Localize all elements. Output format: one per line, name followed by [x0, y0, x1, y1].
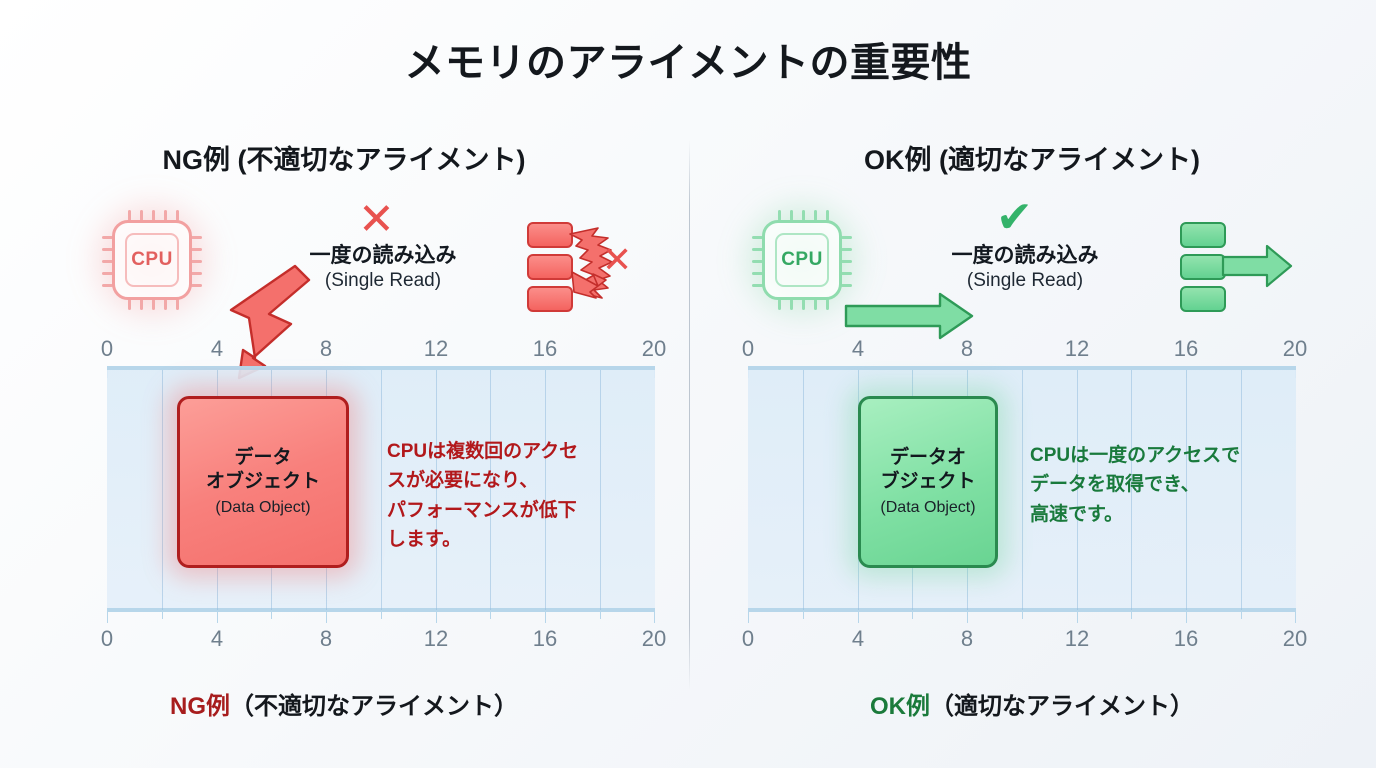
axis-tick-label: 12 [1065, 626, 1089, 652]
data-object-line3-ng: (Data Object) [215, 497, 310, 519]
caption-ng: NG例（不適切なアライメント） [0, 686, 688, 721]
data-object-line1-ng: データ [234, 446, 291, 470]
description-ng: CPUは複数回のアクセ スが必要になり、 パフォーマンスが低下 します。 [387, 437, 637, 555]
data-object-box-ok: データオ ブジェクト (Data Object) [858, 396, 998, 568]
memory-block [1180, 222, 1226, 248]
description-ok: CPUは一度のアクセスで データを取得でき、 高速です。 [1030, 441, 1300, 529]
axis-tick-label: 4 [211, 626, 223, 652]
read-label-jp-ok: 一度の読み込み [910, 243, 1140, 269]
panel-heading-ok: OK例 (適切なアライメント) [688, 138, 1376, 177]
axis-tick-label: 20 [642, 336, 666, 362]
axis-tick-label: 8 [961, 336, 973, 362]
memory-block [527, 286, 573, 312]
single-access-arrow-icon-ok [1221, 244, 1293, 288]
axis-tick-label: 8 [320, 336, 332, 362]
axis-tick-label: 16 [1174, 626, 1198, 652]
axis-tick-label: 12 [424, 336, 448, 362]
cpu-chip-icon-ng: CPU [98, 206, 206, 314]
axis-tick-label: 20 [642, 626, 666, 652]
panel-ok: OK例 (適切なアライメント) CP [688, 0, 1376, 768]
memory-block [1180, 254, 1226, 280]
axis-tick-label: 4 [852, 336, 864, 362]
cpu-body-ng: CPU [112, 220, 192, 300]
data-object-line2-ng: オブジェクト [206, 470, 320, 494]
axis-tick-label: 0 [101, 626, 113, 652]
data-object-line2-ok: ブジェクト [880, 470, 975, 494]
panel-ng: NG例 (不適切なアライメント) C [0, 0, 688, 768]
axis-tick-label: 20 [1283, 336, 1307, 362]
caption-tag-ng: NG例 [170, 693, 230, 720]
read-label-en-ok: (Single Read) [910, 269, 1140, 294]
axis-tick-label: 0 [101, 336, 113, 362]
cpu-label-ok: CPU [765, 249, 839, 271]
aligned-access-arrow-icon-ok [844, 292, 974, 340]
data-object-line1-ok: データオ [890, 446, 966, 470]
caption-tag-ok: OK例 [870, 693, 930, 720]
axis-tick-label: 16 [533, 336, 557, 362]
memory-blocks-ok [1180, 222, 1226, 318]
cpu-label-ng: CPU [115, 249, 189, 271]
caption-ok: OK例（適切なアライメント） [688, 686, 1376, 721]
memory-block [1180, 286, 1226, 312]
data-object-box-ng: データ オブジェクト (Data Object) [177, 396, 349, 568]
memory-block [527, 254, 573, 280]
cross-mark-icon-ng: ✕ [358, 198, 395, 242]
axis-tick-label: 8 [961, 626, 973, 652]
slide-canvas: メモリのアライメントの重要性 NG例 (不適切なアライメント) [0, 0, 1376, 768]
axis-tick-label: 16 [533, 626, 557, 652]
axis-tick-label: 0 [742, 336, 754, 362]
memory-block [527, 222, 573, 248]
axis-bottom-ng: 0 4 8 12 16 20 [107, 610, 655, 612]
check-mark-icon-ok: ✔ [996, 196, 1033, 240]
cross-mark-icon-blocks-ng: ✕ [602, 242, 632, 278]
axis-tick-label: 0 [742, 626, 754, 652]
caption-rest-ng: （不適切なアライメント） [230, 693, 518, 720]
axis-tick-label: 16 [1174, 336, 1198, 362]
panel-heading-ng: NG例 (不適切なアライメント) [0, 138, 688, 177]
caption-rest-ok: （適切なアライメント） [930, 693, 1194, 720]
axis-bottom-ok: 0 4 8 12 16 20 [748, 610, 1296, 612]
axis-tick-label: 12 [424, 626, 448, 652]
axis-tick-label: 12 [1065, 336, 1089, 362]
axis-tick-label: 4 [852, 626, 864, 652]
cpu-body-ok: CPU [762, 220, 842, 300]
axis-tick-label: 4 [211, 336, 223, 362]
cpu-chip-icon-ok: CPU [748, 206, 856, 314]
axis-tick-label: 20 [1283, 626, 1307, 652]
memory-blocks-ng [527, 222, 573, 318]
axis-tick-label: 8 [320, 626, 332, 652]
read-label-ok: 一度の読み込み (Single Read) [910, 243, 1140, 294]
data-object-line3-ok: (Data Object) [880, 497, 975, 519]
